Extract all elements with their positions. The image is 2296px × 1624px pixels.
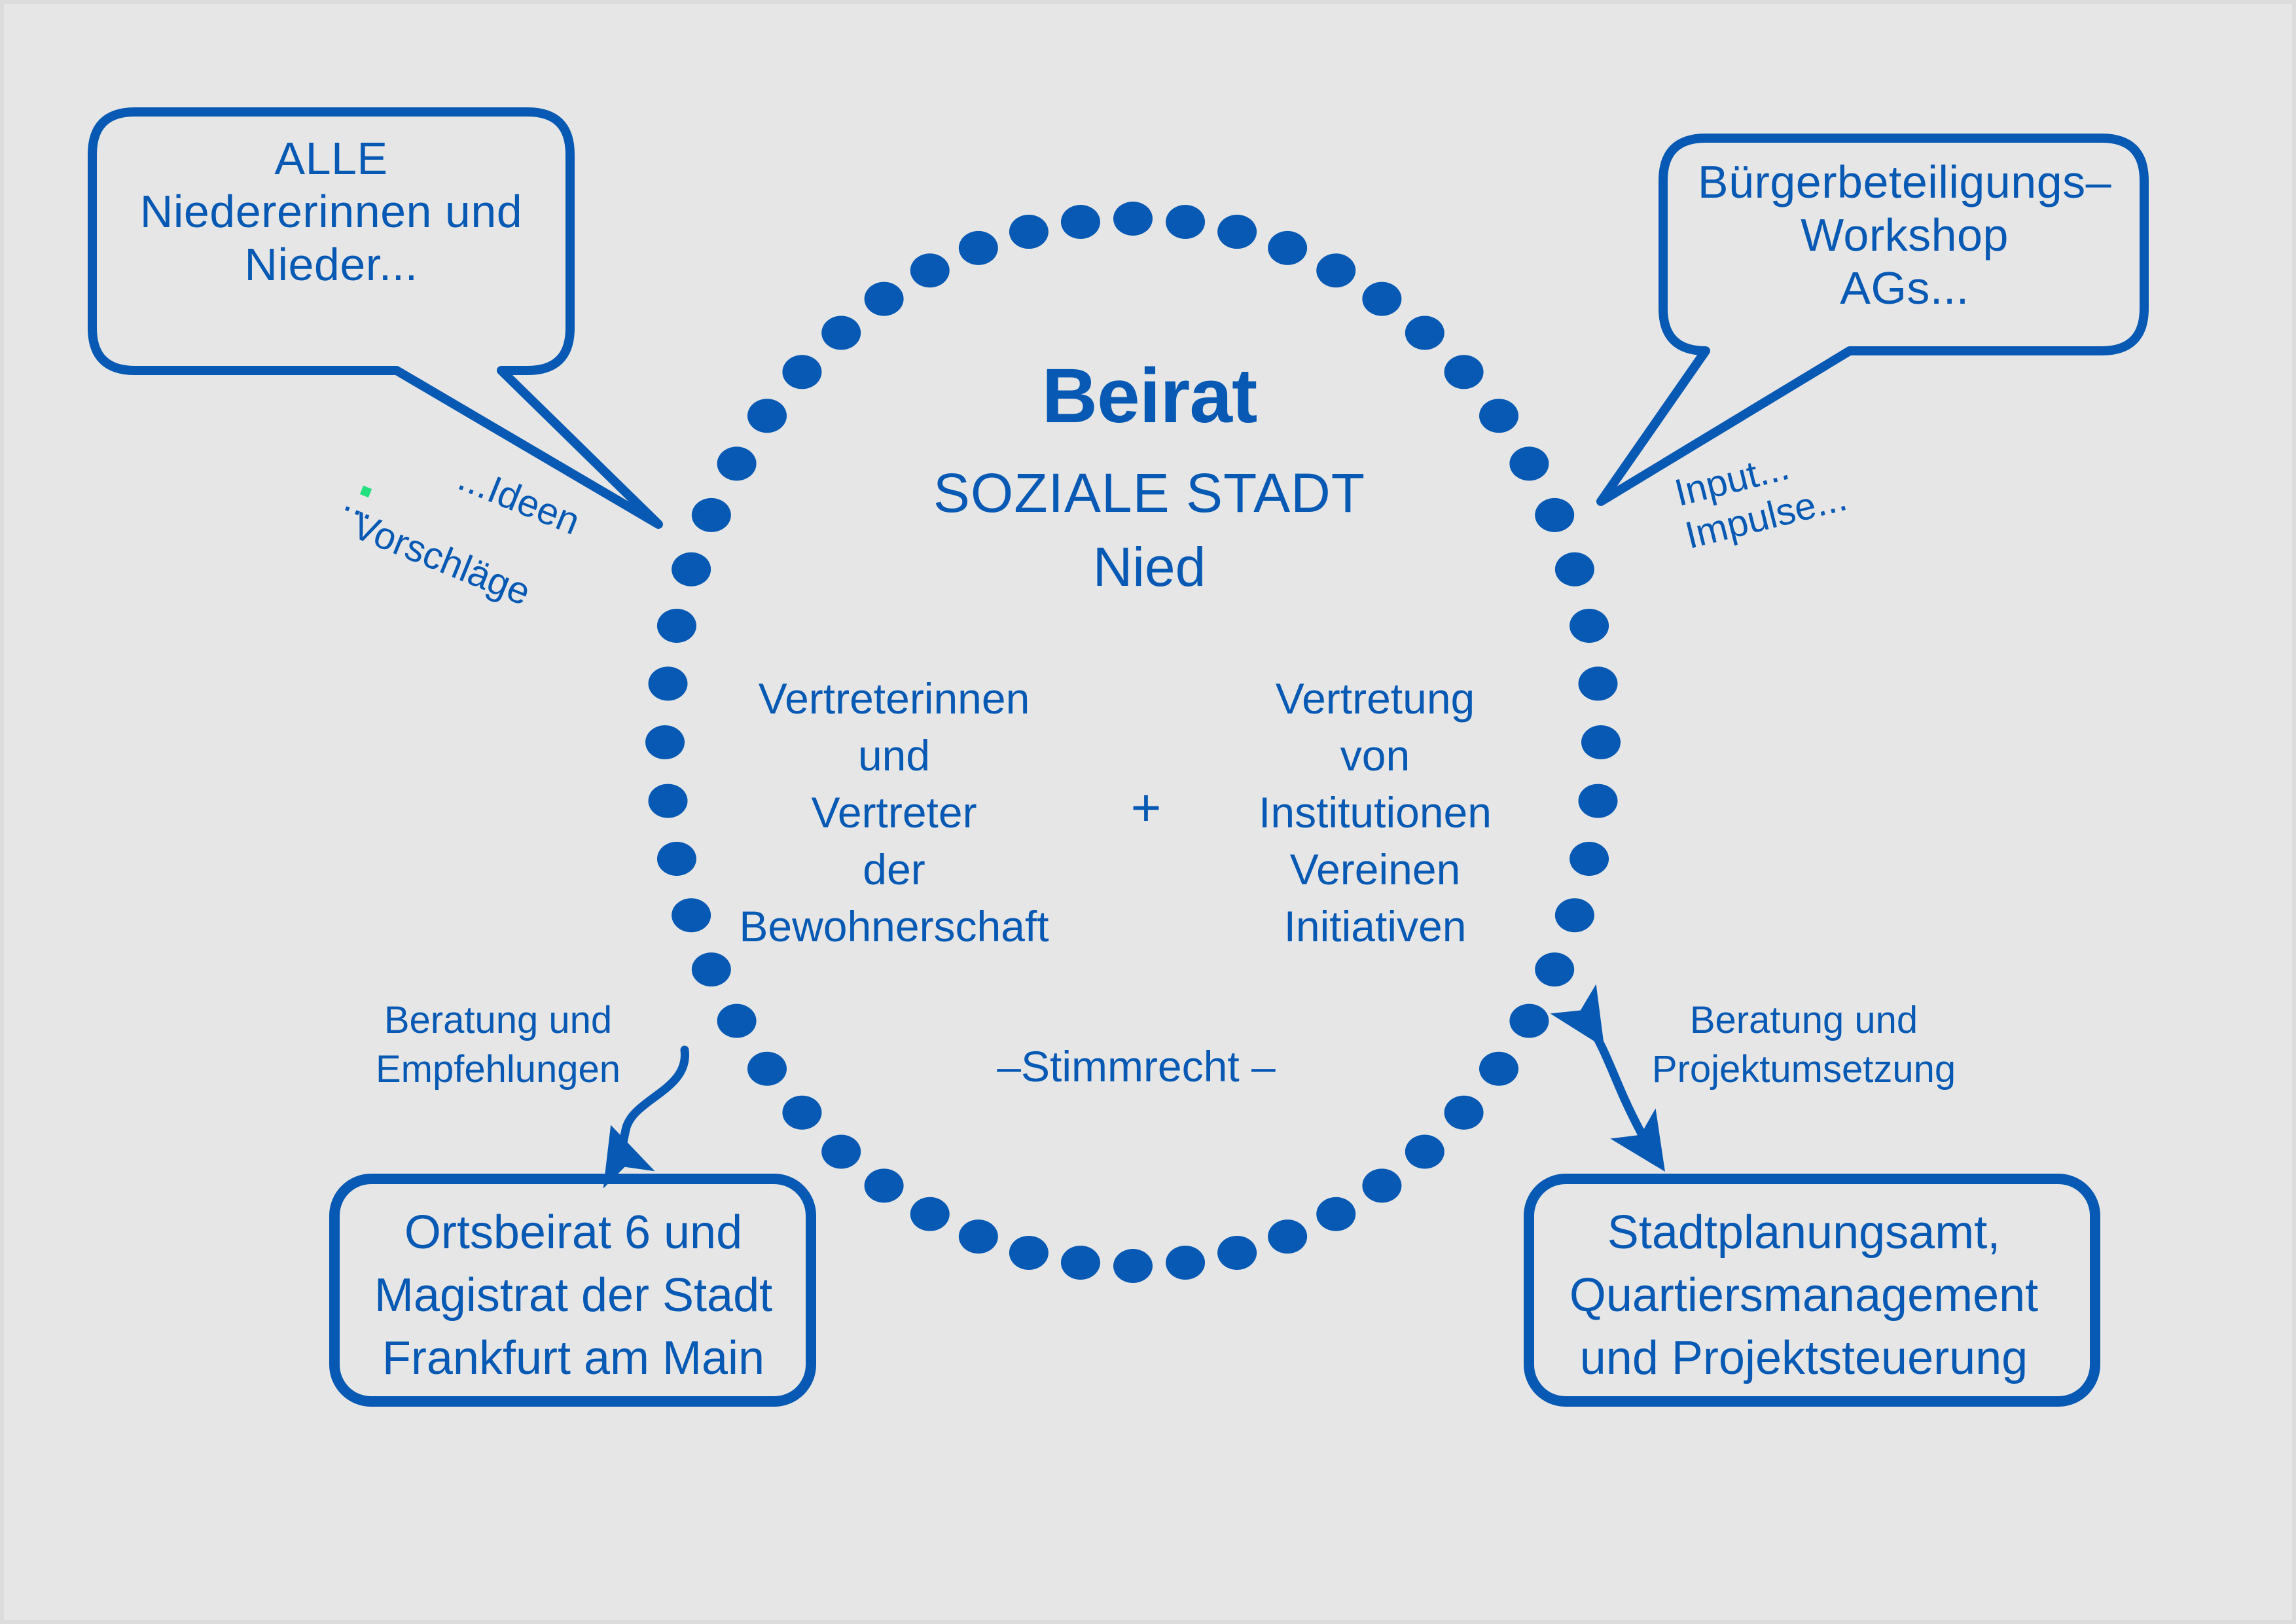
ring-dot [865, 1168, 904, 1202]
ring-dot [1570, 842, 1609, 876]
ring-dot [645, 725, 685, 759]
ring-dot [821, 316, 861, 350]
ring-dot [1444, 1096, 1484, 1130]
box-bottom-left-text: Ortsbeirat 6 und Magistrat der Stadt Fra… [338, 1202, 809, 1390]
ring-dot [649, 784, 688, 818]
ring-dot [1268, 231, 1307, 265]
ring-dot [1217, 1236, 1257, 1270]
center-footer-stimmrecht: –Stimmrecht – [933, 1041, 1339, 1092]
ring-dot [1316, 1197, 1355, 1231]
ring-dot [1166, 205, 1205, 239]
ring-dot [1061, 1246, 1100, 1280]
bubble-top-left-text: ALLE Niedererinnen und Nieder... [96, 132, 567, 292]
ring-dot [1405, 316, 1444, 350]
center-column-left: Vertreterinnen und Vertreter der Bewohne… [691, 670, 1097, 956]
ring-dot [657, 842, 696, 876]
ring-dot [910, 1197, 950, 1231]
ring-dot [1009, 1236, 1049, 1270]
ring-dot [1535, 952, 1574, 986]
bubble-top-right-text: Bürgerbeteiligungs– Workshop AGs... [1670, 156, 2139, 316]
ring-dot [747, 1052, 787, 1086]
ring-dot [649, 666, 688, 700]
ring-dot [717, 1004, 757, 1038]
center-plus-connector: + [1090, 782, 1202, 834]
ring-dot [1479, 1052, 1518, 1086]
ring-dot [1009, 215, 1049, 249]
ring-dot [782, 1096, 821, 1130]
ring-dot [1509, 1004, 1549, 1038]
ring-dot [1579, 784, 1618, 818]
center-title: Beirat [737, 357, 1562, 435]
ring-dot [1570, 609, 1609, 643]
ring-dot [1166, 1246, 1205, 1280]
ring-dot [865, 282, 904, 316]
ring-dot [692, 952, 731, 986]
diagram-canvas: ALLE Niedererinnen und Nieder... Bürgerb… [0, 0, 2296, 1624]
center-column-right: Vertretung von Institutionen Vereinen In… [1202, 670, 1549, 956]
ring-dot [657, 609, 696, 643]
ring-dot [1268, 1219, 1307, 1254]
center-subtitle-line1: SOZIALE STADT [737, 465, 1562, 520]
ring-dot [959, 231, 998, 265]
label-beratung-empfehlungen: Beratung und Empfehlungen [361, 996, 636, 1094]
ring-dot [1061, 205, 1100, 239]
ring-dot [910, 253, 950, 287]
ring-dot [821, 1134, 861, 1168]
ring-dot [1113, 202, 1153, 236]
ring-dot [692, 498, 731, 532]
ring-dot [1362, 282, 1401, 316]
center-subtitle-line2: Nied [737, 539, 1562, 594]
ring-dot [1362, 1168, 1401, 1202]
ring-dot [1217, 215, 1257, 249]
ring-dot [1113, 1249, 1153, 1283]
box-bottom-right-text: Stadtplanungsamt, Quartiersmanagement un… [1535, 1202, 2072, 1390]
ring-dot [1405, 1134, 1444, 1168]
label-beratung-projektumsetzung: Beratung und Projektumsetzung [1634, 996, 1974, 1094]
ring-dot [1316, 253, 1355, 287]
ring-dot [1579, 666, 1618, 700]
ring-dot [1581, 725, 1621, 759]
ring-dot [959, 1219, 998, 1254]
ring-dot [1555, 898, 1594, 932]
ring-dot [672, 552, 711, 586]
